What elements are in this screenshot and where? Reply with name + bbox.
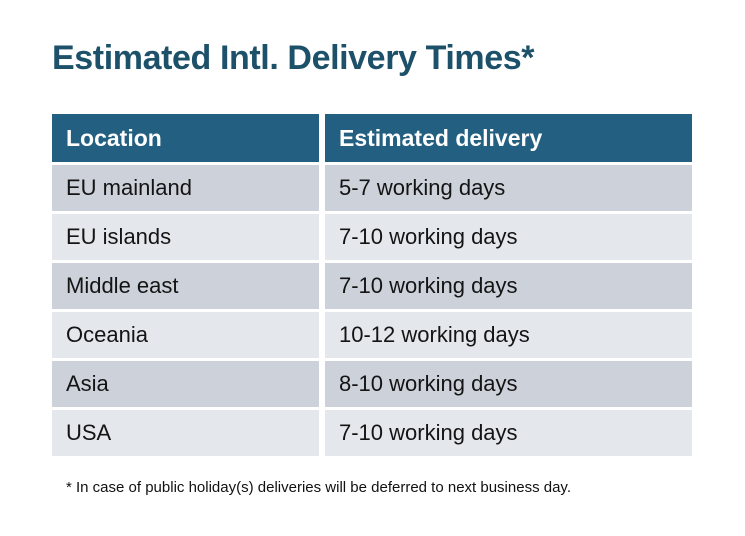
cell-delivery: 5-7 working days — [325, 165, 692, 211]
cell-delivery: 8-10 working days — [325, 361, 692, 407]
cell-location: EU mainland — [52, 165, 319, 211]
column-header-estimated-delivery: Estimated delivery — [325, 114, 692, 162]
footnote-text: * In case of public holiday(s) deliverie… — [66, 479, 571, 496]
table-row: Middle east 7-10 working days — [52, 263, 692, 309]
delivery-times-table: Location Estimated delivery EU mainland … — [52, 114, 692, 459]
cell-location: Asia — [52, 361, 319, 407]
table-header-row: Location Estimated delivery — [52, 114, 692, 162]
cell-delivery: 7-10 working days — [325, 410, 692, 456]
table-row: EU mainland 5-7 working days — [52, 165, 692, 211]
delivery-times-page: Estimated Intl. Delivery Times* Location… — [0, 0, 745, 536]
page-title: Estimated Intl. Delivery Times* — [52, 36, 534, 80]
cell-delivery: 7-10 working days — [325, 263, 692, 309]
cell-location: Middle east — [52, 263, 319, 309]
table-row: Oceania 10-12 working days — [52, 312, 692, 358]
cell-delivery: 10-12 working days — [325, 312, 692, 358]
table-row: EU islands 7-10 working days — [52, 214, 692, 260]
cell-location: Oceania — [52, 312, 319, 358]
cell-delivery: 7-10 working days — [325, 214, 692, 260]
column-header-location: Location — [52, 114, 319, 162]
table-row: USA 7-10 working days — [52, 410, 692, 456]
cell-location: USA — [52, 410, 319, 456]
cell-location: EU islands — [52, 214, 319, 260]
table-row: Asia 8-10 working days — [52, 361, 692, 407]
